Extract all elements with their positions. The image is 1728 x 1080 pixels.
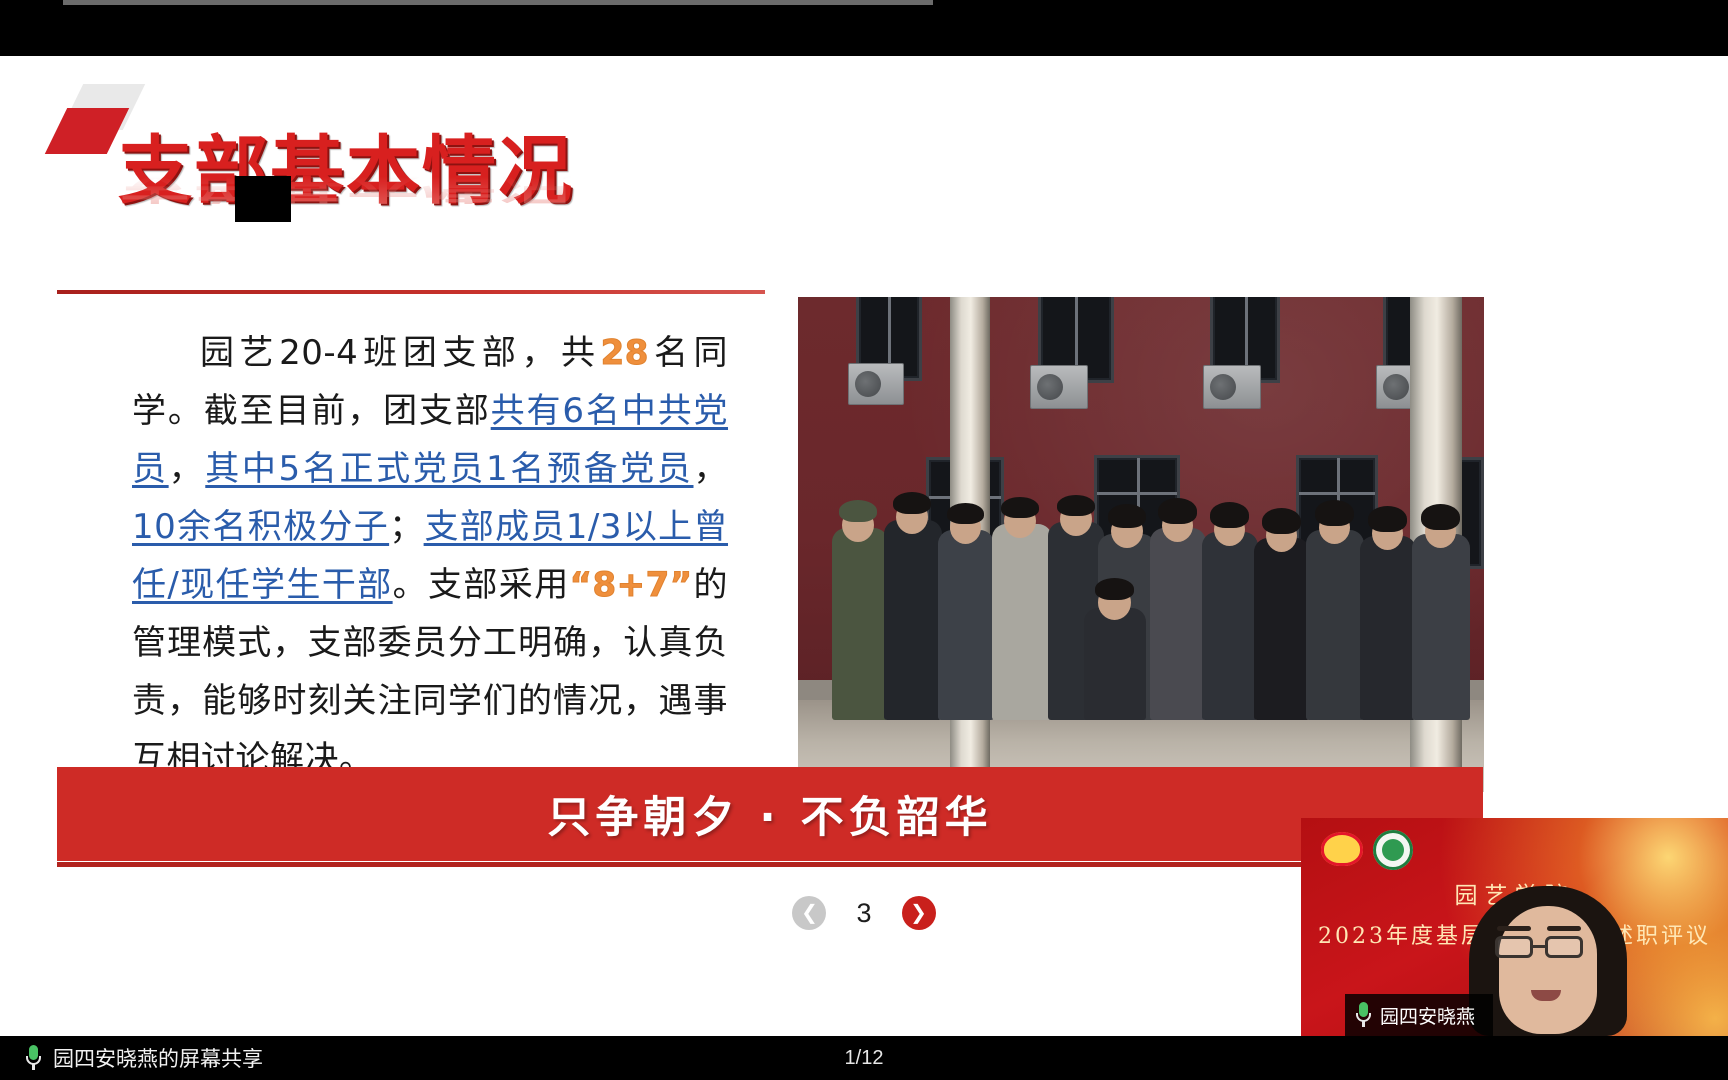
previous-slide-button[interactable]: ❮ bbox=[792, 896, 826, 930]
slogan-banner-underline bbox=[57, 862, 1483, 867]
photo-person bbox=[832, 528, 888, 720]
photo-person bbox=[884, 520, 942, 720]
photo-ac-unit bbox=[1203, 365, 1261, 409]
photo-person bbox=[992, 524, 1052, 720]
slide-body-paragraph: 园艺20-4班团支部，共28名同学。截至目前，团支部共有6名中共党员，其中5名正… bbox=[132, 324, 728, 788]
next-slide-button[interactable]: ❯ bbox=[902, 896, 936, 930]
webcam-glasses-lens bbox=[1545, 936, 1583, 958]
photo-person-crouching bbox=[1084, 608, 1146, 720]
body-text-segment: 10余名积极分子 bbox=[132, 507, 389, 547]
microphone-icon bbox=[1356, 1002, 1371, 1028]
photo-person-hair bbox=[1421, 504, 1460, 530]
page-count-indicator: 1/12 bbox=[845, 1047, 884, 1070]
photo-person-hair bbox=[839, 500, 877, 522]
photo-person-hair bbox=[1158, 498, 1197, 524]
page-title-reflection: 支部基本情况 bbox=[118, 166, 574, 204]
photo-person-hair bbox=[947, 503, 984, 524]
photo-person-hair bbox=[1095, 578, 1134, 600]
photo-ac-unit bbox=[1030, 365, 1088, 409]
participant-video-tile[interactable]: 园艺学院 2023年度基层党支部书记述职评议 园四安晓燕 bbox=[1301, 818, 1728, 1036]
photo-person bbox=[1254, 538, 1310, 720]
photo-person-hair bbox=[893, 492, 931, 514]
slide-title-block: 支部基本情况 支部基本情况 bbox=[118, 134, 574, 278]
photo-person-hair bbox=[1001, 497, 1039, 518]
screen-share-label: 园四安晓燕的屏幕共享 bbox=[53, 1043, 263, 1073]
photo-person-hair bbox=[1262, 508, 1301, 534]
photo-person bbox=[1412, 534, 1470, 720]
logo-parallelogram-red bbox=[45, 108, 129, 154]
body-text-segment: ， bbox=[694, 449, 729, 489]
top-progress-strip bbox=[63, 0, 933, 5]
webcam-eyebrow bbox=[1497, 926, 1531, 931]
participant-name: 园四安晓燕 bbox=[1380, 1002, 1475, 1029]
photo-person bbox=[1202, 532, 1258, 720]
school-emblem-icon bbox=[1373, 830, 1413, 870]
photo-person-hair bbox=[1108, 504, 1146, 528]
redaction-box bbox=[235, 176, 291, 222]
photo-person-hair bbox=[1057, 495, 1095, 516]
photo-person bbox=[938, 530, 994, 720]
webcam-glasses-lens bbox=[1495, 936, 1533, 958]
photo-person-hair bbox=[1315, 500, 1354, 526]
body-text-segment: 其中5名正式党员1名预备党员 bbox=[205, 449, 693, 489]
participant-name-chip: 园四安晓燕 bbox=[1345, 994, 1493, 1036]
title-divider bbox=[57, 290, 765, 294]
body-text-segment: 28 bbox=[601, 333, 649, 373]
webcam-eyebrow bbox=[1547, 926, 1581, 931]
screen-share-indicator: 园四安晓燕的屏幕共享 bbox=[26, 1043, 263, 1073]
photo-person-hair bbox=[1210, 502, 1249, 528]
body-text-segment: “8+7” bbox=[570, 565, 693, 605]
photo-ac-unit bbox=[848, 363, 904, 405]
slide-photo bbox=[798, 297, 1484, 792]
body-text-segment: 。支部采用 bbox=[393, 565, 570, 605]
body-text-segment: ； bbox=[389, 507, 424, 547]
photo-person bbox=[1360, 536, 1416, 720]
screen-share-viewport: 支部基本情况 支部基本情况 园艺20-4班团支部，共28名同学。截至目前，团支部… bbox=[0, 0, 1728, 1080]
body-text-segment: ， bbox=[169, 449, 206, 489]
photo-person-hair bbox=[1368, 506, 1407, 532]
status-bar: 园四安晓燕的屏幕共享 1/12 bbox=[0, 1036, 1728, 1080]
current-slide-number: 3 bbox=[856, 898, 871, 929]
photo-student-group bbox=[798, 490, 1484, 720]
microphone-icon bbox=[26, 1045, 41, 1071]
photo-person bbox=[1150, 528, 1206, 720]
body-text-segment: 园艺20-4班团支部，共 bbox=[200, 333, 601, 373]
slogan-banner: 只争朝夕 · 不负韶华 bbox=[57, 767, 1483, 861]
webcam-glasses-bridge bbox=[1533, 945, 1545, 948]
letterbox-top bbox=[0, 0, 1728, 56]
photo-person bbox=[1306, 530, 1364, 720]
slogan-text: 只争朝夕 · 不负韶华 bbox=[547, 783, 992, 845]
communist-youth-league-emblem-icon bbox=[1321, 832, 1363, 866]
